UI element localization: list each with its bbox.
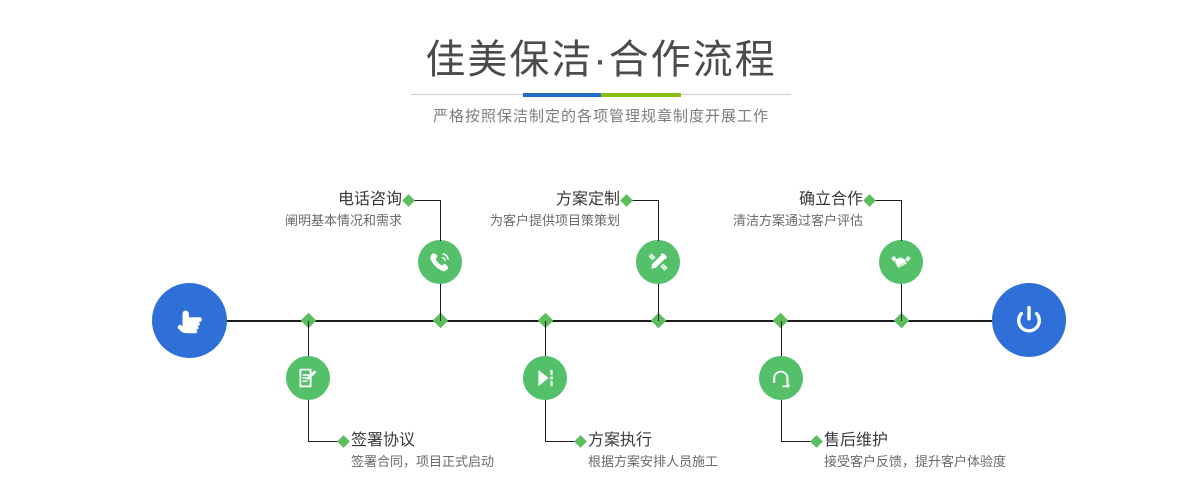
title-divider	[411, 93, 791, 97]
node-icon-step-5[interactable]	[879, 240, 923, 284]
page-title: 佳美保洁·合作流程	[0, 36, 1202, 84]
connector-stem	[545, 321, 546, 357]
connector-stem	[545, 400, 546, 442]
connector-stem	[308, 321, 309, 357]
pencil-icon	[645, 249, 671, 275]
power-icon	[1009, 300, 1049, 340]
divider-segment-green	[601, 93, 681, 97]
process-flow-diagram: 佳美保洁·合作流程 严格按照保洁制定的各项管理规章制度开展工作	[0, 0, 1202, 502]
connector-stem	[308, 400, 309, 442]
step-title: 售后维护	[824, 430, 1154, 452]
page-subtitle: 严格按照保洁制定的各项管理规章制度开展工作	[0, 105, 1202, 129]
handshake-icon	[888, 249, 914, 275]
label-marker	[863, 194, 876, 207]
step-title: 确立合作	[573, 189, 863, 211]
phone-call-icon	[427, 249, 453, 275]
node-icon-step-1[interactable]	[418, 240, 462, 284]
headset-plus-icon	[768, 365, 794, 391]
label-marker	[337, 435, 350, 448]
document-pen-icon	[295, 365, 321, 391]
connector-elbow	[872, 200, 902, 201]
node-icon-step-6[interactable]	[759, 356, 803, 400]
timeline-end-node	[992, 283, 1066, 357]
divider-segment-blue	[523, 93, 601, 97]
play-execute-icon	[532, 365, 558, 391]
connector-stem	[781, 400, 782, 442]
node-icon-step-3[interactable]	[636, 240, 680, 284]
step-description: 清洁方案通过客户评估	[573, 211, 863, 231]
step-label-step-6: 售后维护 接受客户反馈，提升客户体验度	[824, 430, 1154, 472]
step-description: 接受客户反馈，提升客户体验度	[824, 452, 1154, 472]
connector-stem	[901, 200, 902, 241]
node-icon-step-4[interactable]	[523, 356, 567, 400]
timeline-start-node	[152, 283, 227, 358]
pointing-hand-icon	[170, 301, 210, 341]
node-icon-step-2[interactable]	[286, 356, 330, 400]
connector-stem	[781, 321, 782, 357]
step-label-step-5: 确立合作 清洁方案通过客户评估	[573, 189, 863, 231]
